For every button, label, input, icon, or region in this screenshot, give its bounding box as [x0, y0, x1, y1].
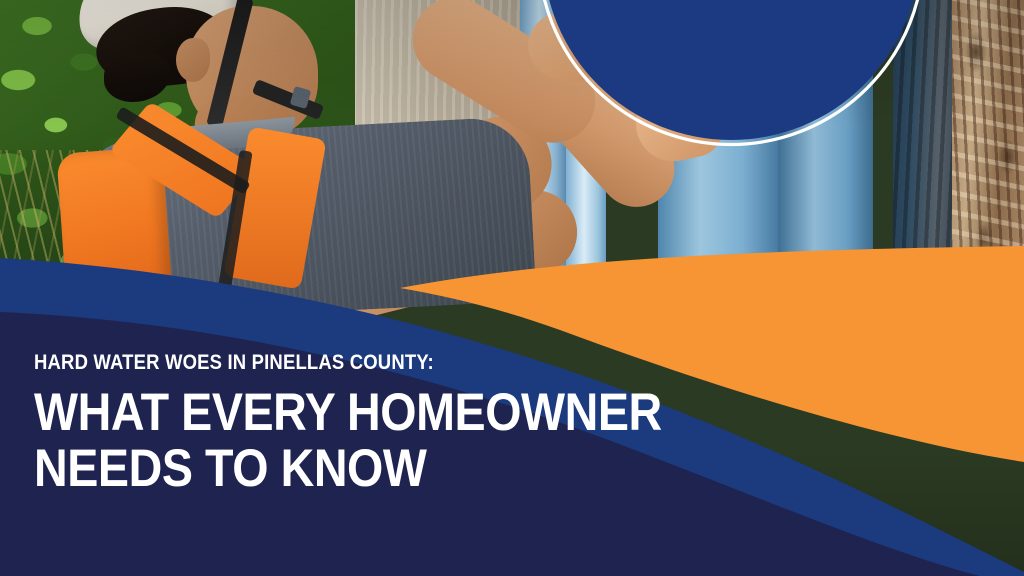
headline-block: HARD WATER WOES IN PINELLAS COUNTY: WHAT…	[34, 352, 774, 497]
blog-banner: HARD WATER WOES IN PINELLAS COUNTY: WHAT…	[0, 0, 1024, 576]
headline-line-1: WHAT EVERY HOMEOWNER	[34, 383, 662, 442]
headline-line-2: NEEDS TO KNOW	[34, 441, 685, 497]
page-title: WHAT EVERY HOMEOWNER NEEDS TO KNOW	[34, 385, 685, 497]
blue-ring-circle	[539, 0, 924, 145]
kicker-text: HARD WATER WOES IN PINELLAS COUNTY:	[34, 352, 670, 374]
circle-fill	[543, 0, 919, 140]
